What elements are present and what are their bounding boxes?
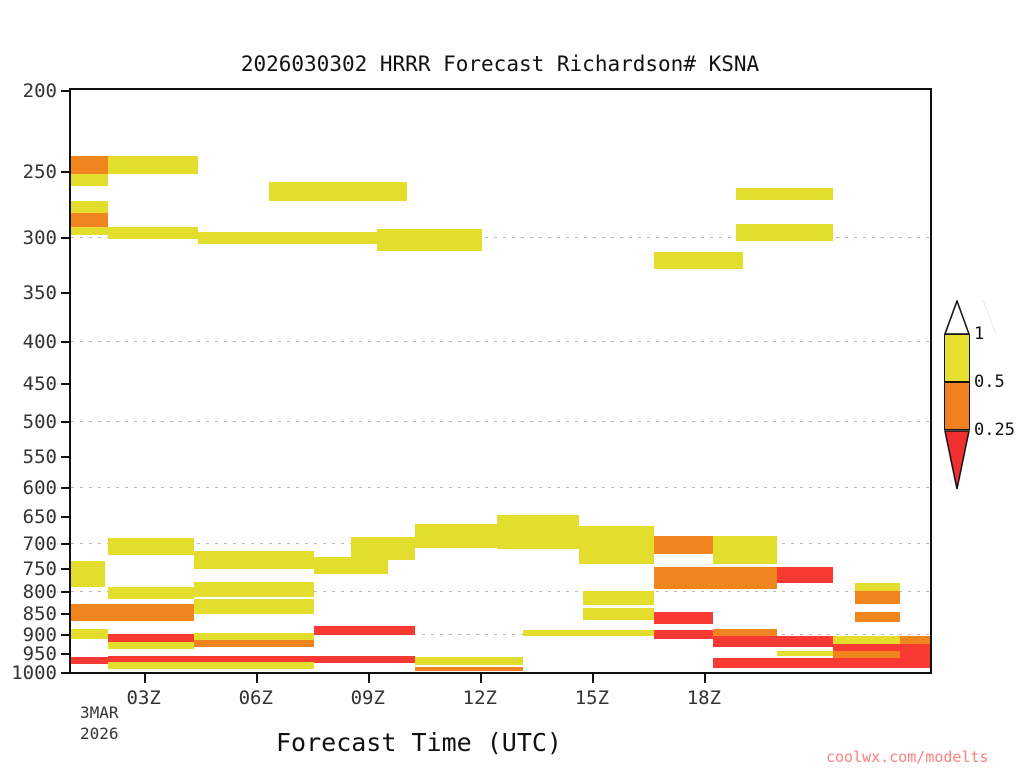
x-axis-label: 03Z bbox=[127, 687, 161, 709]
heatmap-cell bbox=[269, 182, 407, 201]
heatmap-cell bbox=[579, 526, 654, 546]
colorbar-under-arrow bbox=[944, 430, 970, 490]
gridline bbox=[71, 487, 930, 488]
y-axis-label: 750 bbox=[23, 558, 57, 580]
heatmap-cell bbox=[108, 662, 194, 669]
heatmap-cell bbox=[654, 252, 744, 269]
heatmap-cell bbox=[108, 587, 194, 600]
heatmap-cell bbox=[579, 546, 654, 564]
heatmap-cell bbox=[71, 629, 108, 639]
gridline bbox=[71, 341, 930, 342]
heatmap-cell bbox=[855, 583, 900, 591]
heatmap-cell bbox=[108, 227, 198, 239]
heatmap-cell bbox=[351, 548, 414, 560]
heatmap-cell bbox=[777, 651, 833, 656]
y-axis-label: 1000 bbox=[11, 662, 57, 684]
y-axis-label: 700 bbox=[23, 533, 57, 555]
y-axis-label: 850 bbox=[23, 603, 57, 625]
heatmap-cell bbox=[71, 657, 108, 664]
heatmap-cells bbox=[71, 90, 930, 672]
colorbar-tick-label: 1 bbox=[974, 324, 984, 344]
heatmap-cell bbox=[194, 640, 314, 647]
heatmap-cell bbox=[194, 551, 314, 569]
x-axis-label: 18Z bbox=[687, 687, 721, 709]
heatmap-cell bbox=[523, 630, 654, 636]
heatmap-cell bbox=[713, 629, 776, 636]
y-axis-tick bbox=[61, 292, 69, 294]
y-axis-tick bbox=[61, 613, 69, 615]
y-axis-tick bbox=[61, 568, 69, 570]
heatmap-cell bbox=[108, 634, 194, 642]
heatmap-cell bbox=[900, 649, 930, 658]
y-axis-label: 600 bbox=[23, 477, 57, 499]
colorbar-legend: 10.50.25 bbox=[944, 300, 1024, 490]
heatmap-cell bbox=[71, 227, 108, 236]
y-axis-label: 450 bbox=[23, 373, 57, 395]
heatmap-cell bbox=[736, 188, 833, 200]
plot-area bbox=[69, 88, 932, 674]
heatmap-cell bbox=[713, 536, 776, 564]
y-axis-tick bbox=[61, 634, 69, 636]
heatmap-cell bbox=[108, 538, 194, 555]
heatmap-cell bbox=[415, 667, 523, 671]
heatmap-cell bbox=[777, 567, 833, 583]
y-axis-tick bbox=[61, 421, 69, 423]
x-axis-tick bbox=[256, 674, 258, 683]
x-axis-tick bbox=[704, 674, 706, 683]
y-axis-tick bbox=[61, 171, 69, 173]
x-axis-title: Forecast Time (UTC) bbox=[69, 728, 769, 757]
y-axis-label: 500 bbox=[23, 411, 57, 433]
x-axis-tick bbox=[480, 674, 482, 683]
heatmap-cell bbox=[194, 633, 314, 640]
gridline bbox=[71, 672, 930, 673]
heatmap-cell bbox=[833, 651, 900, 658]
y-axis-tick bbox=[61, 487, 69, 489]
heatmap-cell bbox=[497, 515, 579, 538]
heatmap-cell bbox=[654, 536, 714, 554]
heatmap-cell bbox=[415, 657, 523, 664]
heatmap-cell bbox=[194, 599, 314, 614]
y-axis-tick bbox=[61, 341, 69, 343]
y-axis-label: 650 bbox=[23, 506, 57, 528]
colorbar-segment bbox=[944, 334, 970, 382]
y-axis-tick bbox=[61, 672, 69, 674]
x-axis-label: 06Z bbox=[239, 687, 273, 709]
heatmap-cell bbox=[194, 582, 314, 597]
y-axis-label: 550 bbox=[23, 446, 57, 468]
heatmap-cell bbox=[71, 174, 108, 187]
heatmap-cell bbox=[108, 156, 198, 174]
heatmap-cell bbox=[713, 658, 930, 668]
x-axis-tick bbox=[592, 674, 594, 683]
y-axis-label: 350 bbox=[23, 282, 57, 304]
heatmap-cell bbox=[654, 567, 777, 589]
x-axis-label: 15Z bbox=[575, 687, 609, 709]
y-axis-label: 200 bbox=[23, 80, 57, 102]
gridline bbox=[71, 421, 930, 422]
y-axis-label: 800 bbox=[23, 581, 57, 603]
heatmap-cell bbox=[654, 612, 714, 624]
x-axis-label: 09Z bbox=[351, 687, 385, 709]
heatmap-cell bbox=[855, 591, 900, 603]
heatmap-cell bbox=[198, 232, 377, 244]
watermark: coolwx.com/modelts bbox=[826, 748, 989, 766]
heatmap-cell bbox=[583, 608, 654, 620]
heatmap-cell bbox=[583, 591, 654, 604]
heatmap-cell bbox=[736, 224, 833, 241]
y-axis-tick bbox=[61, 456, 69, 458]
heatmap-cell bbox=[833, 636, 900, 644]
chart-canvas: 2026030302 HRRR Forecast Richardson# KSN… bbox=[0, 0, 1024, 768]
colorbar-segment bbox=[944, 382, 970, 430]
y-axis-tick bbox=[61, 516, 69, 518]
y-axis-label: 400 bbox=[23, 331, 57, 353]
heatmap-cell bbox=[314, 656, 415, 663]
colorbar-over-arrow-outline bbox=[944, 300, 970, 334]
x-axis-tick bbox=[144, 674, 146, 683]
y-axis: 2002503003504004505005506006507007508008… bbox=[0, 88, 69, 674]
y-axis-label: 250 bbox=[23, 161, 57, 183]
heatmap-cell bbox=[900, 636, 930, 644]
heatmap-cell bbox=[415, 524, 497, 543]
heatmap-cell bbox=[194, 662, 314, 669]
x-axis-tick bbox=[368, 674, 370, 683]
heatmap-cell bbox=[855, 612, 900, 623]
heatmap-cell bbox=[377, 229, 482, 250]
x-axis-label: 12Z bbox=[463, 687, 497, 709]
y-axis-tick bbox=[61, 543, 69, 545]
heatmap-cell bbox=[108, 642, 194, 649]
heatmap-cell bbox=[71, 201, 108, 213]
y-axis-tick bbox=[61, 90, 69, 92]
y-axis-tick bbox=[61, 237, 69, 239]
y-axis-tick bbox=[61, 591, 69, 593]
heatmap-cell bbox=[71, 604, 194, 621]
heatmap-cell bbox=[314, 626, 415, 636]
colorbar-tick-label: 0.5 bbox=[974, 372, 1005, 392]
heatmap-cell bbox=[713, 636, 833, 647]
heatmap-cell bbox=[71, 156, 108, 174]
heatmap-cell bbox=[654, 630, 714, 639]
colorbar-tick-label: 0.25 bbox=[974, 420, 1015, 440]
y-axis-tick bbox=[61, 653, 69, 655]
y-axis-tick bbox=[61, 383, 69, 385]
heatmap-cell bbox=[71, 213, 108, 227]
chart-title: 2026030302 HRRR Forecast Richardson# KSN… bbox=[0, 52, 1000, 76]
heatmap-cell bbox=[497, 538, 579, 549]
y-axis-label: 300 bbox=[23, 227, 57, 249]
heatmap-cell bbox=[71, 561, 105, 587]
